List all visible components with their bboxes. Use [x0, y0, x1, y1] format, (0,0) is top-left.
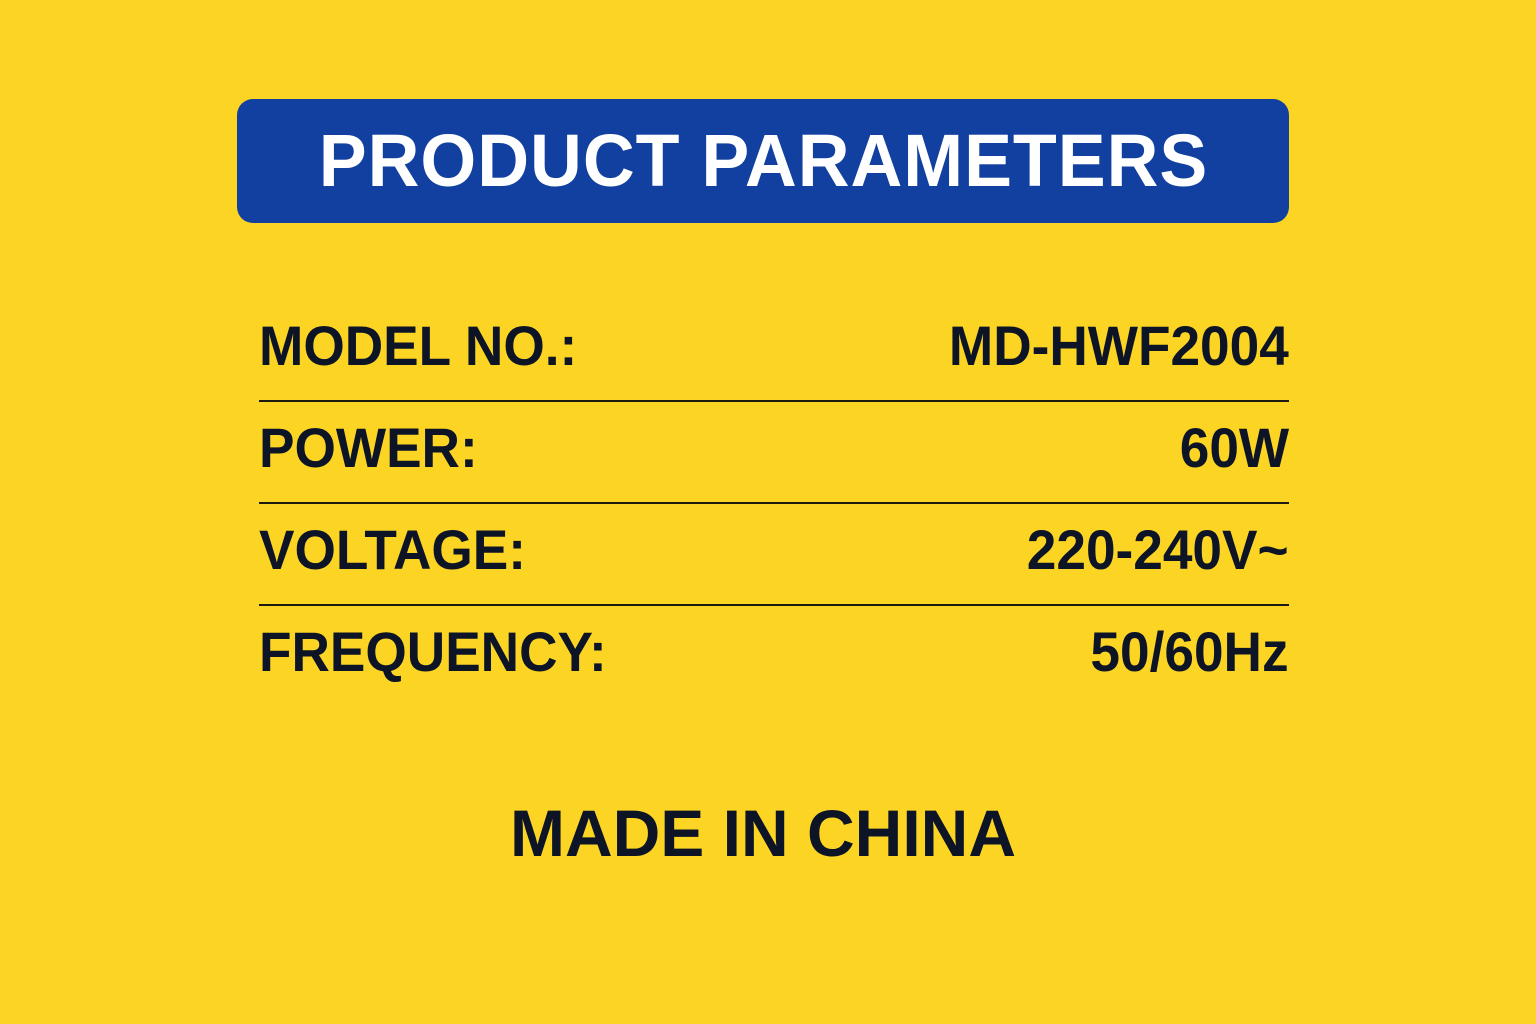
- country-of-origin: MADE IN CHINA: [237, 800, 1289, 866]
- spec-label-voltage: VOLTAGE:: [259, 504, 526, 578]
- table-row: POWER: 60W: [259, 402, 1289, 504]
- product-parameters-label: PRODUCT PARAMETERS MODEL NO.: MD-HWF2004…: [0, 0, 1536, 1024]
- spec-value-voltage: 220-240V~: [1027, 504, 1289, 578]
- spec-value-model-no: MD-HWF2004: [949, 300, 1289, 374]
- header-banner: PRODUCT PARAMETERS: [237, 99, 1289, 223]
- spec-label-model-no: MODEL NO.:: [259, 300, 577, 374]
- page-title: PRODUCT PARAMETERS: [318, 124, 1207, 198]
- spec-table: MODEL NO.: MD-HWF2004 POWER: 60W VOLTAGE…: [259, 300, 1289, 708]
- table-row: FREQUENCY: 50/60Hz: [259, 606, 1289, 708]
- spec-label-power: POWER:: [259, 402, 478, 476]
- spec-value-power: 60W: [1180, 402, 1289, 476]
- spec-label-frequency: FREQUENCY:: [259, 606, 607, 680]
- table-row: MODEL NO.: MD-HWF2004: [259, 300, 1289, 402]
- spec-value-frequency: 50/60Hz: [1091, 606, 1289, 680]
- table-row: VOLTAGE: 220-240V~: [259, 504, 1289, 606]
